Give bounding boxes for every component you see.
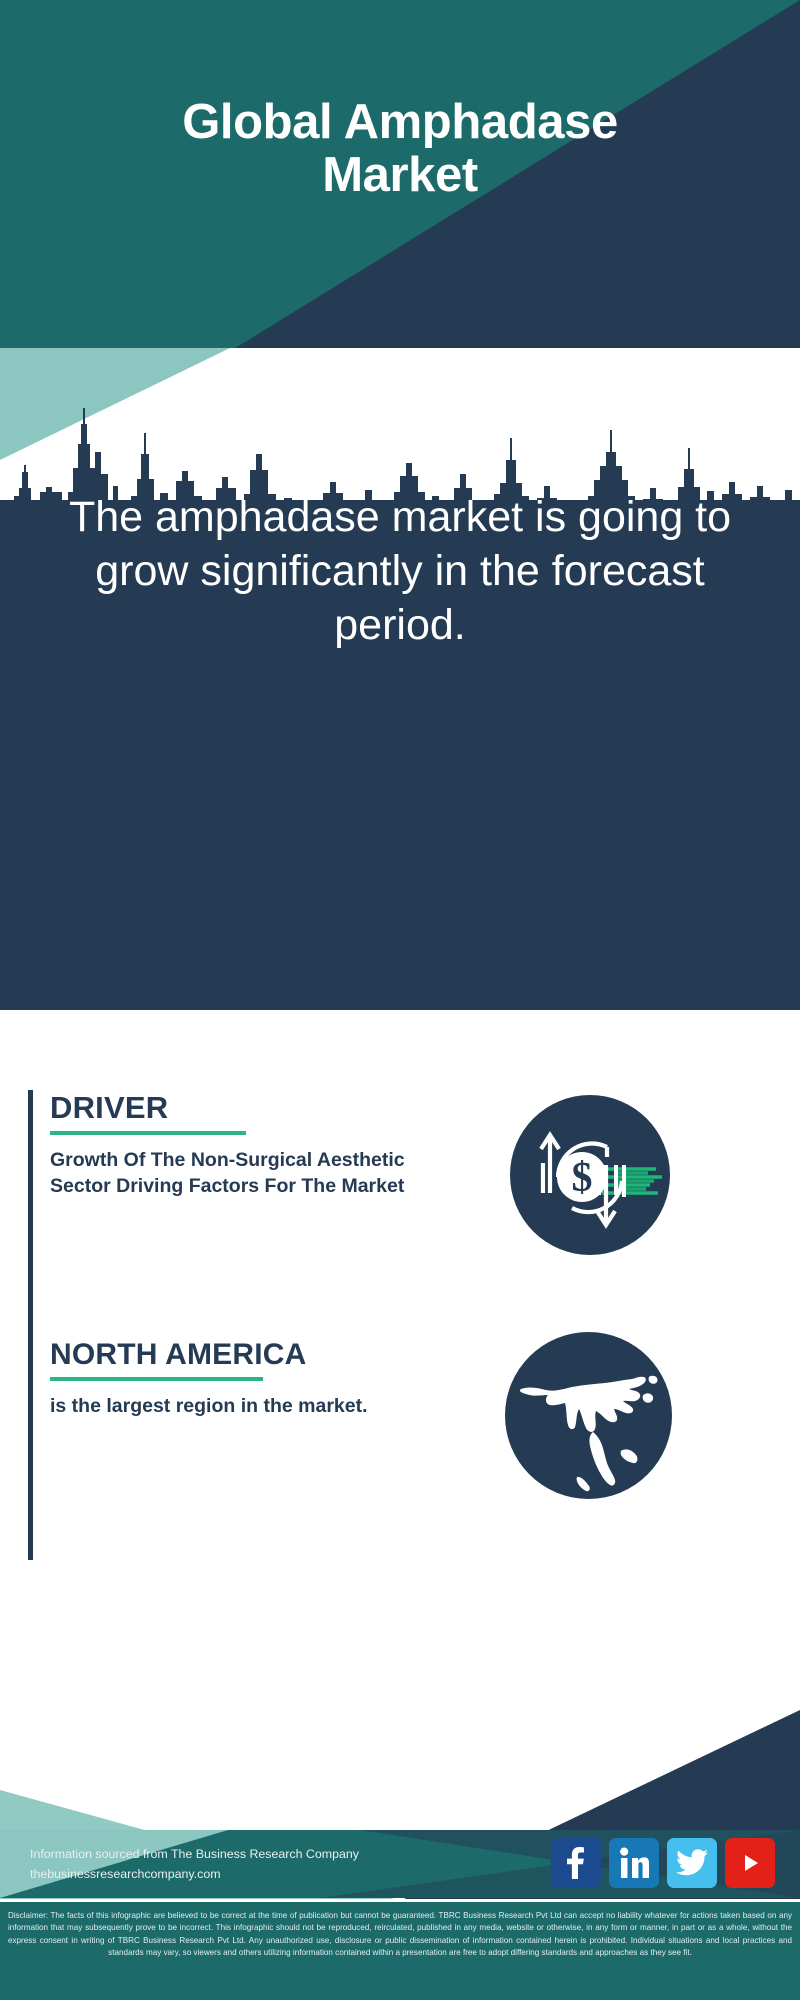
social-links: ™: [551, 1838, 775, 1888]
north-america-map-icon: [505, 1332, 672, 1499]
card-title: DRIVER: [50, 1090, 420, 1126]
disclaimer-text: Disclaimer: The facts of this infographi…: [8, 1910, 792, 1959]
card-driver: DRIVER Growth Of The Non-Surgical Aesthe…: [28, 1090, 448, 1380]
hero-statement-section: The amphadase market is going to grow si…: [0, 500, 800, 1010]
card-body-text: is the largest region in the market.: [50, 1394, 450, 1420]
header-banner: Global Amphadase Market: [0, 0, 800, 350]
card-north-america: NORTH AMERICA is the largest region in t…: [28, 1338, 458, 1560]
title-underline: [50, 1131, 246, 1135]
footer-credit-line1: Information sourced from The Business Re…: [30, 1844, 359, 1864]
hero-headline: The amphadase market is going to grow si…: [0, 490, 800, 653]
insight-cards-section: DRIVER Growth Of The Non-Surgical Aesthe…: [0, 1010, 800, 1620]
svg-text:$: $: [572, 1155, 593, 1201]
facebook-glyph: [562, 1847, 590, 1879]
page-title: Global Amphadase Market: [0, 96, 800, 202]
dollar-growth-icon: $: [510, 1095, 670, 1255]
title-underline: [50, 1377, 263, 1381]
twitter-icon[interactable]: [667, 1838, 717, 1888]
disclaimer-section: Disclaimer: The facts of this infographi…: [0, 1902, 800, 2000]
north-america-map-glyph: [505, 1332, 672, 1499]
card-content: NORTH AMERICA is the largest region in t…: [50, 1338, 450, 1420]
youtube-icon[interactable]: [725, 1838, 775, 1888]
footer-credit: Information sourced from The Business Re…: [30, 1844, 359, 1884]
footer-bar: Information sourced from The Business Re…: [0, 1830, 800, 1898]
card-title: NORTH AMERICA: [50, 1338, 450, 1372]
svg-text:™: ™: [646, 1874, 649, 1879]
twitter-bird-glyph: [676, 1849, 708, 1877]
youtube-play-glyph: [736, 1849, 764, 1877]
card-accent-bar: [28, 1090, 33, 1380]
card-content: DRIVER Growth Of The Non-Surgical Aesthe…: [50, 1090, 420, 1200]
linkedin-icon[interactable]: ™: [609, 1838, 659, 1888]
disclaimer-divider: [0, 1899, 800, 1902]
dollar-growth-glyph: $: [510, 1095, 670, 1255]
footer-credit-line2[interactable]: thebusinessresearchcompany.com: [30, 1864, 359, 1884]
card-accent-bar: [28, 1338, 33, 1560]
facebook-icon[interactable]: [551, 1838, 601, 1888]
infographic-page: Global Amphadase Market The amphadase ma…: [0, 0, 800, 2000]
linkedin-glyph: ™: [619, 1847, 649, 1879]
card-body-text: Growth Of The Non-Surgical Aesthetic Sec…: [50, 1148, 420, 1200]
